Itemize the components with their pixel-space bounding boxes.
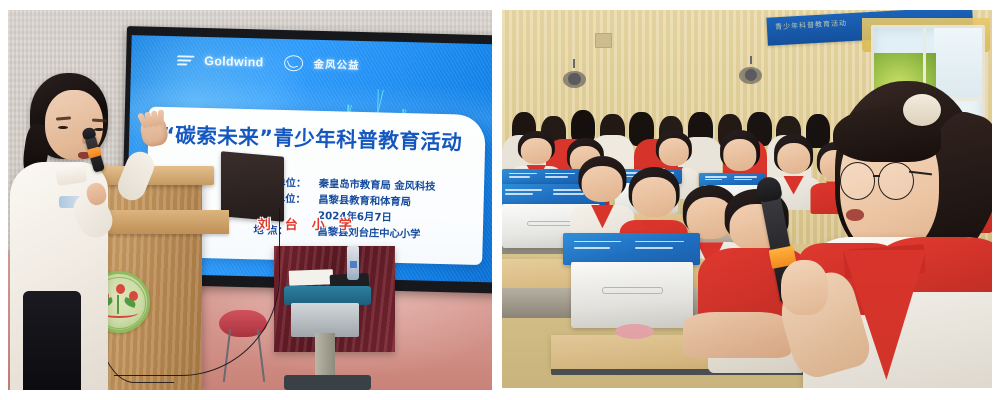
wall-fan-icon — [561, 67, 588, 93]
microphone-orange-band — [87, 146, 102, 158]
charity-wordmark: 金风公益 — [313, 57, 359, 73]
speaker-eye — [58, 126, 68, 130]
school-name-character: 学 — [339, 214, 352, 233]
eyeglasses-bridge — [873, 175, 880, 177]
student-hand-holding-microphone — [781, 260, 828, 315]
goldwind-wordmark: Goldwind — [204, 54, 264, 69]
science-kit-box — [571, 233, 694, 328]
classroom-students-photo: 青少年科普教育活动 — [502, 10, 992, 388]
goldwind-charity-circle-icon — [284, 55, 303, 71]
presenter-at-podium-photo: Goldwind 金风公益 — [8, 10, 492, 390]
speaker-trousers — [23, 291, 81, 390]
foreground-boy-arm — [683, 312, 791, 357]
equipment-cart-top — [284, 286, 371, 305]
school-name-character: 小 — [312, 214, 325, 233]
hair-scrunchie — [903, 94, 941, 127]
pink-pencil-case — [615, 324, 654, 339]
wall-vent-icon — [595, 33, 612, 48]
screenshot-canvas: Goldwind 金风公益 — [0, 0, 1000, 400]
slide-detail-lines: 主办单位： 秦皇岛市教育局 金风科技 承办单位： 昌黎县教育和体育局 时 间： … — [253, 175, 477, 244]
classroom-banner-text: 青少年科普教育活动 — [774, 18, 846, 32]
eyeglasses-lens-icon — [878, 162, 914, 200]
slide-title: “碳索未来”青少年科普教育活动 — [161, 117, 479, 155]
student-mouth — [846, 209, 864, 220]
papers-on-table — [288, 270, 332, 287]
eyeglasses-lens-icon — [840, 162, 876, 200]
water-bottle — [347, 246, 360, 280]
goldwind-wind-mark-icon — [177, 55, 194, 67]
foreground-student-with-microphone — [776, 74, 992, 388]
wall-fan-icon — [737, 63, 764, 89]
equipment-cart-base — [284, 375, 371, 390]
school-name-character: 台 — [285, 214, 298, 233]
kit-body — [571, 262, 694, 327]
speaker-collar — [55, 162, 87, 186]
kit-lid — [563, 233, 700, 265]
equipment-cart-body — [291, 303, 359, 337]
